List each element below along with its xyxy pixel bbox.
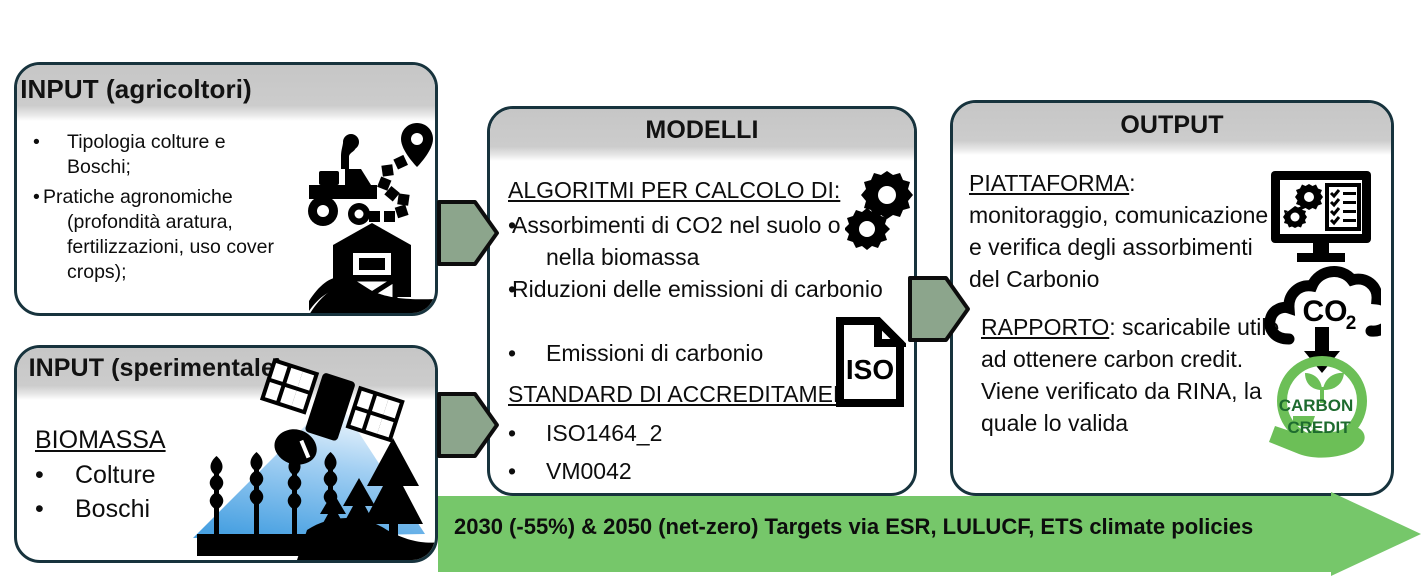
list-item-label: Colture xyxy=(75,460,156,490)
card-input-farmers-header: INPUT (agricoltori) xyxy=(17,65,435,121)
tractor-route-icon xyxy=(299,121,438,231)
connector-farmers-to-models xyxy=(437,196,499,270)
monitor-checklist-icon xyxy=(1265,167,1377,267)
carbon-credit-line1: CARBON xyxy=(1279,396,1354,415)
list-item: • ISO1464_2 xyxy=(508,417,662,449)
barn-field-icon xyxy=(309,219,435,316)
bullet-glyph: • xyxy=(33,130,67,155)
card-output-header: OUTPUT xyxy=(953,103,1391,155)
connector-models-to-output xyxy=(908,272,970,346)
card-output: OUTPUT PIATTAFORMA: monitoraggio, comuni… xyxy=(950,100,1394,496)
list-item: • Tipologia colture e Boschi; xyxy=(33,130,283,180)
card-models-title: MODELLI xyxy=(645,116,758,145)
carbon-credit-icon: CARBON CREDIT xyxy=(1259,349,1385,465)
list-item: • Emissioni di carbonio xyxy=(508,337,763,369)
list-item-label: Assorbimenti di CO2 nel suolo o nella bi… xyxy=(546,209,856,273)
iso-document-text: ISO xyxy=(846,354,894,385)
satellite-scene-icon xyxy=(157,352,438,563)
card-input-farmers: INPUT (agricoltori) • Tipologia colture … xyxy=(14,62,438,316)
bullet-glyph: • xyxy=(35,460,75,490)
carbon-credit-line2: CREDIT xyxy=(1287,418,1351,437)
list-item: • Riduzioni delle emissioni di carbonio xyxy=(508,273,898,305)
piattaforma-label: PIATTAFORMA xyxy=(969,170,1129,196)
list-item-label: Emissioni di carbonio xyxy=(546,337,763,369)
list-item-label: Pratiche agronomiche (profondità aratura… xyxy=(67,185,301,285)
list-item: • Assorbimenti di CO2 nel suolo o nella … xyxy=(508,209,856,273)
rapporto-block: RAPPORTO: scaricabile utile ad ottenere … xyxy=(981,311,1283,439)
diagram-canvas: INPUT (agricoltori) • Tipologia colture … xyxy=(0,0,1421,576)
algoritmi-label: ALGORITMI PER CALCOLO DI: xyxy=(508,177,840,204)
card-models-header: MODELLI xyxy=(490,109,914,161)
card-input-experimental: INPUT (sperimentale) BIOMASSA • Colture … xyxy=(14,345,438,563)
card-models: MODELLI ALGORITMI PER CALCOLO DI: • Asso… xyxy=(487,106,917,496)
co2-subscript: 2 xyxy=(1346,313,1357,334)
card-input-farmers-title: INPUT (agricoltori) xyxy=(20,74,252,105)
co2-label: CO xyxy=(1303,295,1348,328)
list-item-label: Tipologia colture e Boschi; xyxy=(67,130,283,180)
list-item: • Pratiche agronomiche (profondità aratu… xyxy=(33,185,301,285)
climate-targets-banner-text: 2030 (-55%) & 2050 (net-zero) Targets vi… xyxy=(454,514,1253,540)
connector-experimental-to-models xyxy=(437,388,499,462)
list-item-label: ISO1464_2 xyxy=(546,417,662,449)
list-item-label: VM0042 xyxy=(546,455,632,487)
bullet-glyph: • xyxy=(508,417,546,449)
list-item: • Boschi xyxy=(35,494,150,524)
list-item-label: Boschi xyxy=(75,494,150,524)
list-item-label: Riduzioni delle emissioni di carbonio xyxy=(546,273,898,305)
climate-targets-banner: 2030 (-55%) & 2050 (net-zero) Targets vi… xyxy=(438,492,1421,576)
bullet-glyph: • xyxy=(508,337,546,369)
biomassa-label: BIOMASSA xyxy=(35,426,166,455)
rapporto-label: RAPPORTO xyxy=(981,314,1109,340)
bullet-glyph: • xyxy=(508,455,546,487)
gears-icon xyxy=(845,171,917,253)
bullet-glyph: • xyxy=(35,494,75,524)
iso-document-icon: ISO xyxy=(834,317,906,407)
list-item: • Colture xyxy=(35,460,156,490)
piattaforma-block: PIATTAFORMA: monitoraggio, comunicazione… xyxy=(969,167,1275,295)
card-output-title: OUTPUT xyxy=(1120,111,1223,140)
list-item: • VM0042 xyxy=(508,455,632,487)
